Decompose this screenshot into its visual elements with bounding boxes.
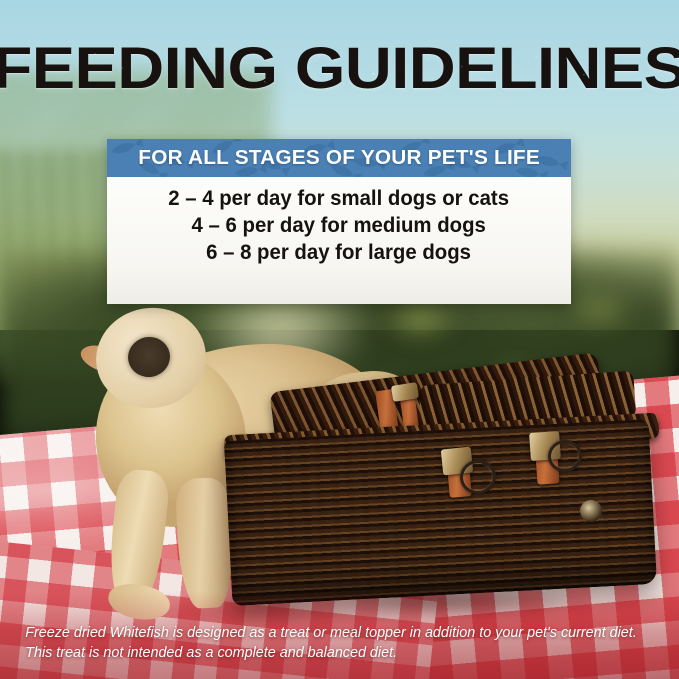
feeding-line-medium: 4 – 6 per day for medium dogs — [192, 212, 486, 239]
panel-banner: FOR ALL STAGES OF YOUR PET'S LIFE — [107, 139, 571, 177]
title-area: FEEDING GUIDELINES — [0, 0, 679, 110]
disclaimer-line-1: Freeze dried Whitefish is designed as a … — [25, 623, 659, 643]
feeding-guidelines-infographic: FEEDING GUIDELINES — [0, 0, 679, 679]
panel-body: 2 – 4 per day for small dogs or cats 4 –… — [107, 177, 571, 304]
panel-banner-text: FOR ALL STAGES OF YOUR PET'S LIFE — [138, 147, 540, 170]
page-title: FEEDING GUIDELINES — [0, 40, 679, 98]
disclaimer-text: Freeze dried Whitefish is designed as a … — [25, 623, 659, 663]
feeding-line-small: 2 – 4 per day for small dogs or cats — [169, 185, 510, 212]
disclaimer-line-2: This treat is not intended as a complete… — [25, 643, 659, 663]
feeding-line-large: 6 – 8 per day for large dogs — [207, 239, 472, 266]
feeding-guidelines-panel: FOR ALL STAGES OF YOUR PET'S LIFE 2 – 4 … — [107, 139, 571, 304]
